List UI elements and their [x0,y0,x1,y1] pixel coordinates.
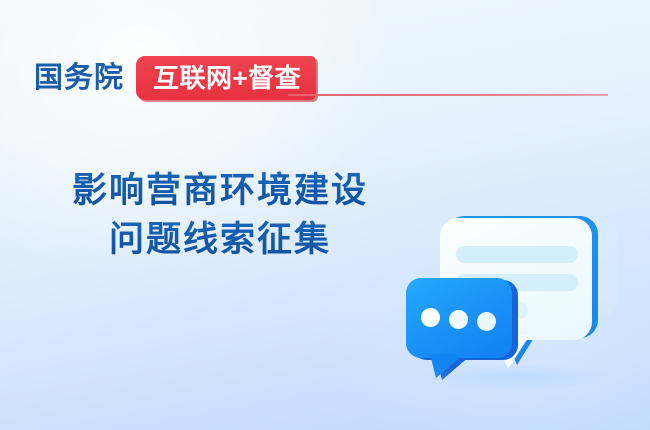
gov-label: 国务院 [34,55,124,101]
ellipsis-dot-icon [449,310,468,329]
chat-bubbles-illustration [398,196,638,396]
ellipsis-dot-icon [421,308,440,327]
illustration-drop-shadow [420,364,610,390]
page-title-line-1: 影响营商环境建设 [0,166,440,215]
page-title-line-2: 问题线索征集 [0,215,440,264]
banner-root: 国务院 互联网+督查 影响营商环境建设 问题线索征集 [0,0,650,430]
ellipsis-dot-icon [477,312,496,331]
header-divider-rule [288,94,608,96]
topic-badge-label: 互联网+督查 [153,65,301,91]
banner-header: 国务院 互联网+督查 [0,55,650,105]
page-title: 影响营商环境建设 问题线索征集 [0,166,440,264]
bubble-text-line-icon [456,246,578,263]
